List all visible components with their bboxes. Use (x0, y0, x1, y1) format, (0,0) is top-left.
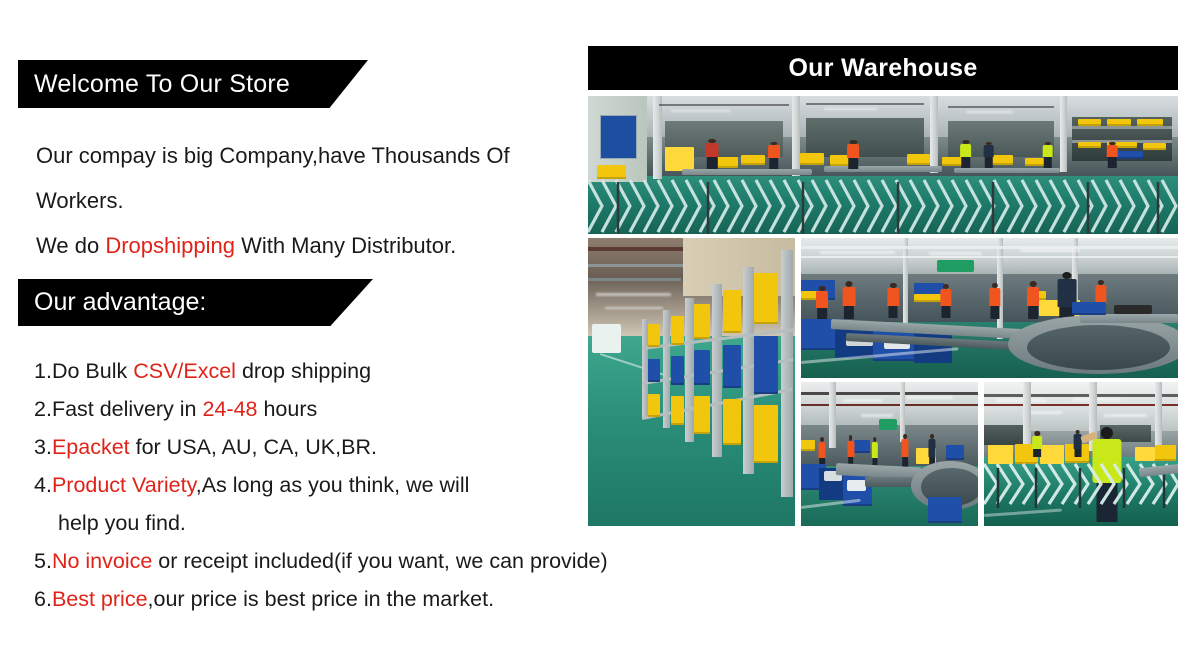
advantage-highlight-3: Epacket (52, 435, 130, 459)
intro-line-2: Workers. (36, 181, 581, 220)
advantage-number-4: 4. (34, 473, 52, 497)
advantage-highlight-2: 24-48 (203, 397, 258, 421)
photo-storage-aisle (588, 238, 795, 526)
advantage-item-6: 6.Best price,our price is best price in … (34, 580, 594, 618)
dropshipping-before: We do (36, 233, 105, 258)
advantage-highlight-5: No invoice (52, 549, 152, 573)
welcome-banner-label: Welcome To Our Store (34, 70, 290, 99)
advantage-item-2: 2.Fast delivery in 24-48 hours (34, 390, 594, 428)
advantage-number-2: 2. (34, 397, 52, 421)
advantage-before-2: Fast delivery in (52, 397, 203, 421)
dropshipping-after: With Many Distributor. (235, 233, 456, 258)
advantage-number-6: 6. (34, 587, 52, 611)
advantage-highlight-4: Product Variety (52, 473, 196, 497)
photo-sorting-line (801, 238, 1178, 378)
advantage-highlight-1: CSV/Excel (133, 359, 236, 383)
advantage-item-4-continuation: help you find. (34, 504, 594, 542)
advantage-highlight-6: Best price (52, 587, 148, 611)
advantage-number-1: 1. (34, 359, 52, 383)
advantage-item-5: 5.No invoice or receipt included(if you … (34, 542, 594, 580)
advantage-after-3: for USA, AU, CA, UK,BR. (130, 435, 377, 459)
photo-warehouse-overview (588, 96, 1178, 234)
advantage-number-3: 3. (34, 435, 52, 459)
photo-loading-station (984, 382, 1178, 526)
advantage-after-6: ,our price is best price in the market. (148, 587, 495, 611)
advantage-number-5: 5. (34, 549, 52, 573)
dropshipping-line: We do Dropshipping With Many Distributor… (36, 226, 581, 265)
advantage-item-4: 4.Product Variety,As long as you think, … (34, 466, 594, 504)
welcome-banner: Welcome To Our Store (18, 60, 368, 108)
advantage-after-4: ,As long as you think, we will (196, 473, 470, 497)
left-text-column: Welcome To Our Store Our compay is big C… (0, 0, 588, 650)
warehouse-title: Our Warehouse (788, 54, 977, 83)
advantage-list: 1.Do Bulk CSV/Excel drop shipping 2.Fast… (34, 352, 594, 618)
intro-line-1: Our compay is big Company,have Thousands… (36, 136, 581, 175)
advantage-item-1: 1.Do Bulk CSV/Excel drop shipping (34, 352, 594, 390)
intro-paragraph: Our compay is big Company,have Thousands… (36, 136, 581, 271)
warehouse-header-bar: Our Warehouse (588, 46, 1178, 90)
advantage-after-1: drop shipping (236, 359, 371, 383)
advantage-item-3: 3.Epacket for USA, AU, CA, UK,BR. (34, 428, 594, 466)
advantage-after-5: or receipt included(if you want, we can … (152, 549, 607, 573)
advantage-after-2: hours (258, 397, 318, 421)
advantage-banner-label: Our advantage: (34, 288, 206, 317)
promo-banner-page: Welcome To Our Store Our compay is big C… (0, 0, 1194, 650)
dropshipping-highlight: Dropshipping (105, 233, 235, 258)
warehouse-photo-column: Our Warehouse (588, 46, 1178, 526)
photo-packing-area (801, 382, 978, 526)
advantage-banner: Our advantage: (18, 279, 373, 326)
advantage-before-1: Do Bulk (52, 359, 133, 383)
